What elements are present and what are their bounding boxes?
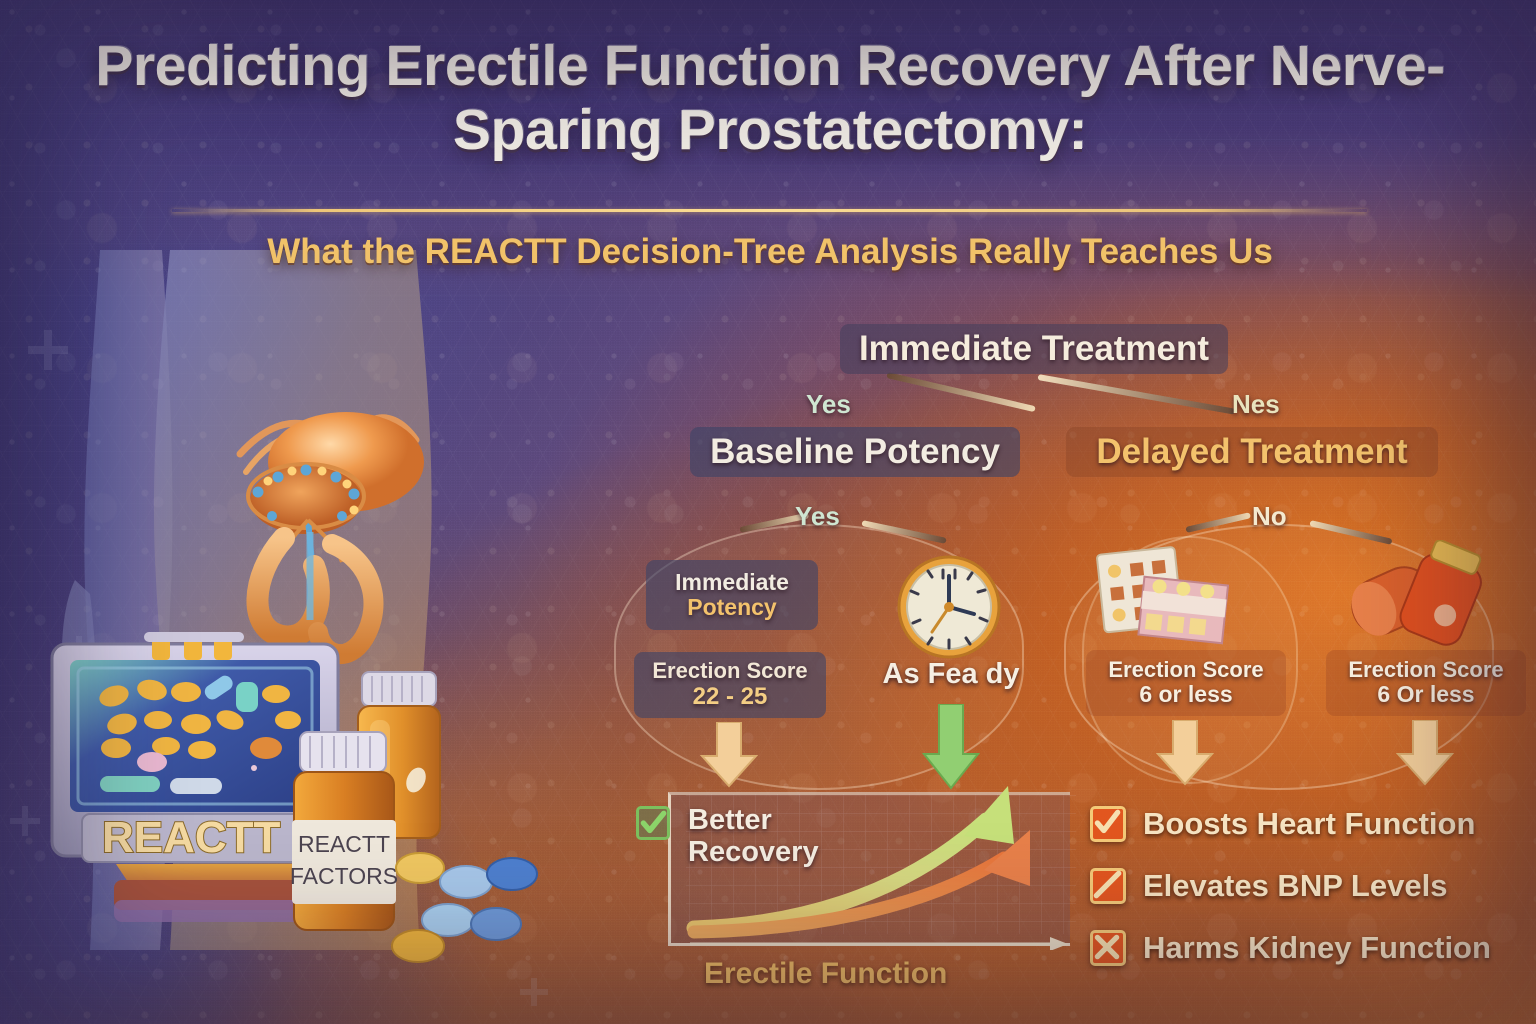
infographic-canvas: REACTT REACTT FACTORS xyxy=(0,0,1536,1024)
vignette-overlay xyxy=(0,0,1536,1024)
